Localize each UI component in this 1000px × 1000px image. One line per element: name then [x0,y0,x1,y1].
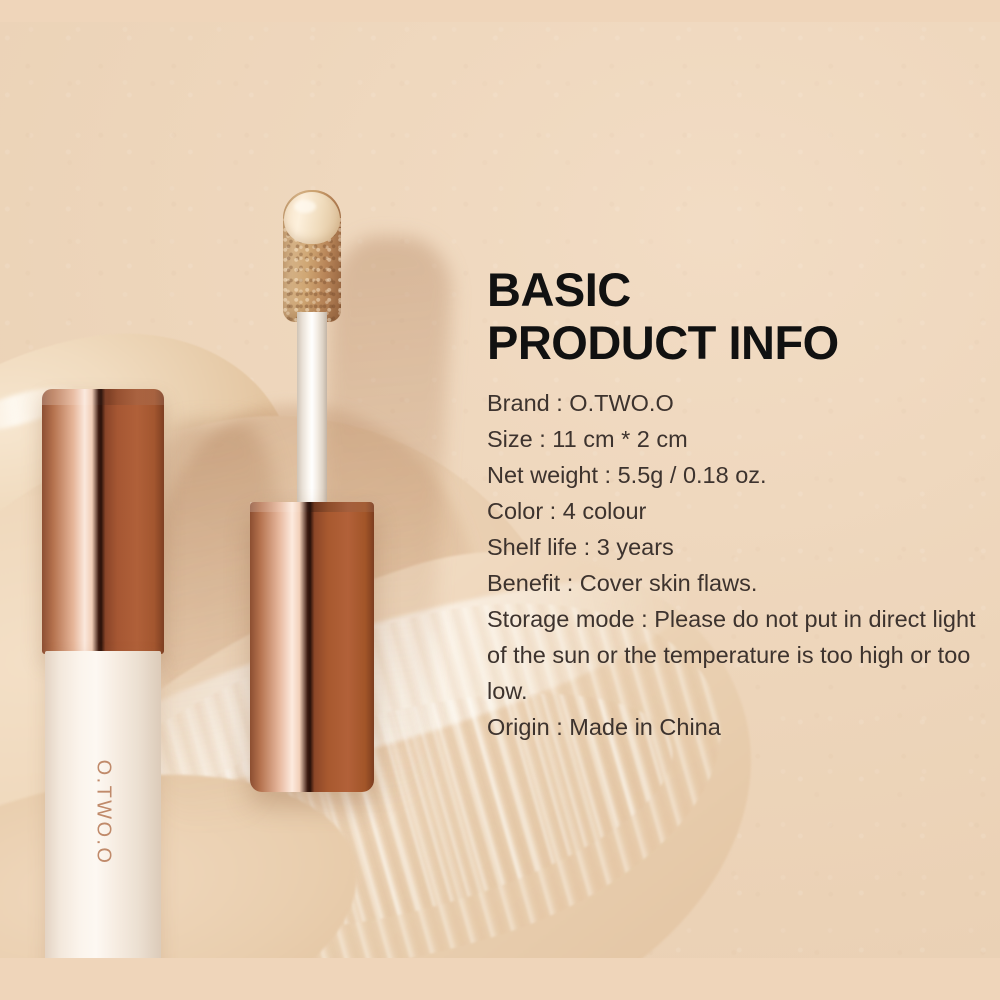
product-info-banner: O.TWO.O BASIC PRODUCT INFO Brand : O.TWO… [0,0,1000,1000]
spec-origin: Origin : Made in China [487,709,987,745]
spec-storage-mode: Storage mode : Please do not put in dire… [487,601,987,709]
spec-benefit: Benefit : Cover skin flaws. [487,565,987,601]
concealer-tube-closed: O.TWO.O [42,389,164,958]
spec-list: Brand : O.TWO.O Size : 11 cm * 2 cm Net … [487,385,987,745]
product-info-panel: BASIC PRODUCT INFO Brand : O.TWO.O Size … [487,264,987,745]
concealer-applicator-wand [250,190,380,802]
tube-body: O.TWO.O [45,651,161,958]
spec-shelf-life: Shelf life : 3 years [487,529,987,565]
tube-brand-label: O.TWO.O [92,760,115,866]
tube-cap-top-edge [42,389,164,405]
applicator-cream-highlight [294,200,316,213]
wand-cap-top-edge [250,502,374,512]
page-title: BASIC PRODUCT INFO [487,264,987,369]
banner-canvas: O.TWO.O BASIC PRODUCT INFO Brand : O.TWO… [0,22,1000,958]
spec-brand: Brand : O.TWO.O [487,385,987,421]
applicator-stem [297,312,327,512]
wand-cap-handle [250,502,374,792]
tube-cap [42,389,164,654]
heading-line-2: PRODUCT INFO [487,317,987,370]
spec-size: Size : 11 cm * 2 cm [487,421,987,457]
applicator-product-cream [284,192,340,244]
spec-color: Color : 4 colour [487,493,987,529]
heading-line-1: BASIC [487,264,987,317]
spec-net-weight: Net weight : 5.5g / 0.18 oz. [487,457,987,493]
